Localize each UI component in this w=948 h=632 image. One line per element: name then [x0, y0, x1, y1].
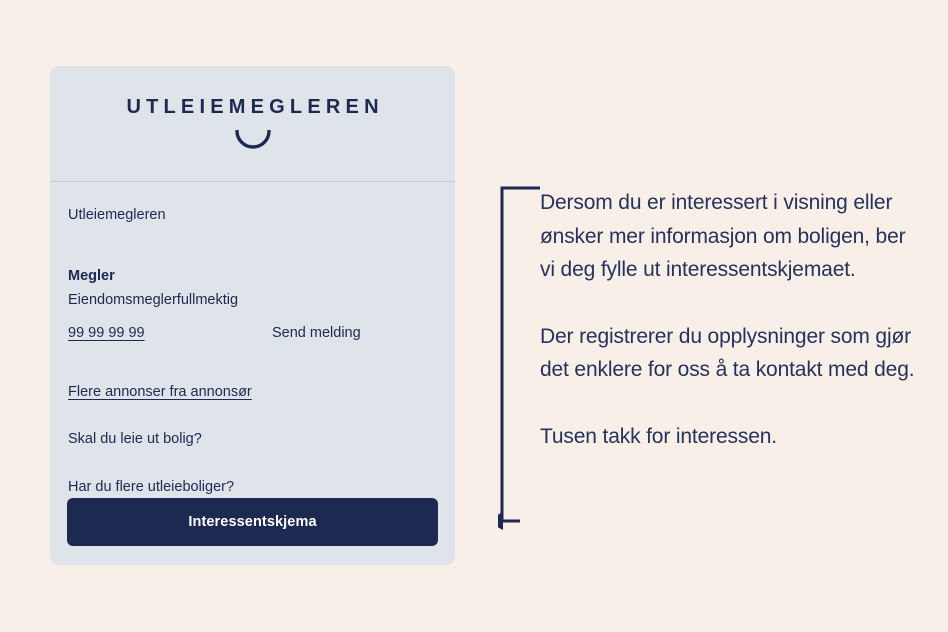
- more-ads-row: Flere annonser fra annonsør: [50, 383, 455, 431]
- card-header: UTLEIEMEGLEREN: [50, 66, 455, 182]
- annotation-text-block: Dersom du er interessert i visning eller…: [540, 186, 920, 453]
- rent-out-property-link[interactable]: Skal du leie ut bolig?: [68, 430, 202, 449]
- send-message-link[interactable]: Send melding: [272, 325, 361, 341]
- utleiemegleren-logo-wordmark: UTLEIEMEGLEREN: [121, 97, 383, 117]
- agent-role: Eiendomsmeglerfullmektig: [50, 291, 455, 310]
- annotation-paragraph-2: Der registrerer du opplysninger som gjør…: [540, 320, 920, 387]
- more-ads-from-advertiser-link[interactable]: Flere annonser fra annonsør: [68, 383, 252, 402]
- agent-phone-link[interactable]: 99 99 99 99: [68, 325, 272, 341]
- agency-name: Utleiemegleren: [50, 206, 455, 225]
- annotation-paragraph-1: Dersom du er interessert i visning eller…: [540, 186, 920, 287]
- annotation-paragraph-3: Tusen takk for interessen.: [540, 420, 920, 454]
- agent-contact-row: 99 99 99 99 Send melding: [50, 325, 455, 341]
- card-body: Utleiemegleren Megler Eiendomsmeglerfull…: [50, 182, 455, 526]
- interessentskjema-button[interactable]: Interessentskjema: [67, 498, 438, 546]
- smile-arc-icon: [234, 130, 272, 150]
- rent-out-row: Skal du leie ut bolig?: [50, 430, 455, 478]
- broker-contact-card: UTLEIEMEGLEREN Utleiemegleren Megler Eie…: [50, 66, 455, 565]
- more-rental-properties-link[interactable]: Har du flere utleieboliger?: [68, 478, 234, 497]
- agent-title: Megler: [50, 267, 455, 286]
